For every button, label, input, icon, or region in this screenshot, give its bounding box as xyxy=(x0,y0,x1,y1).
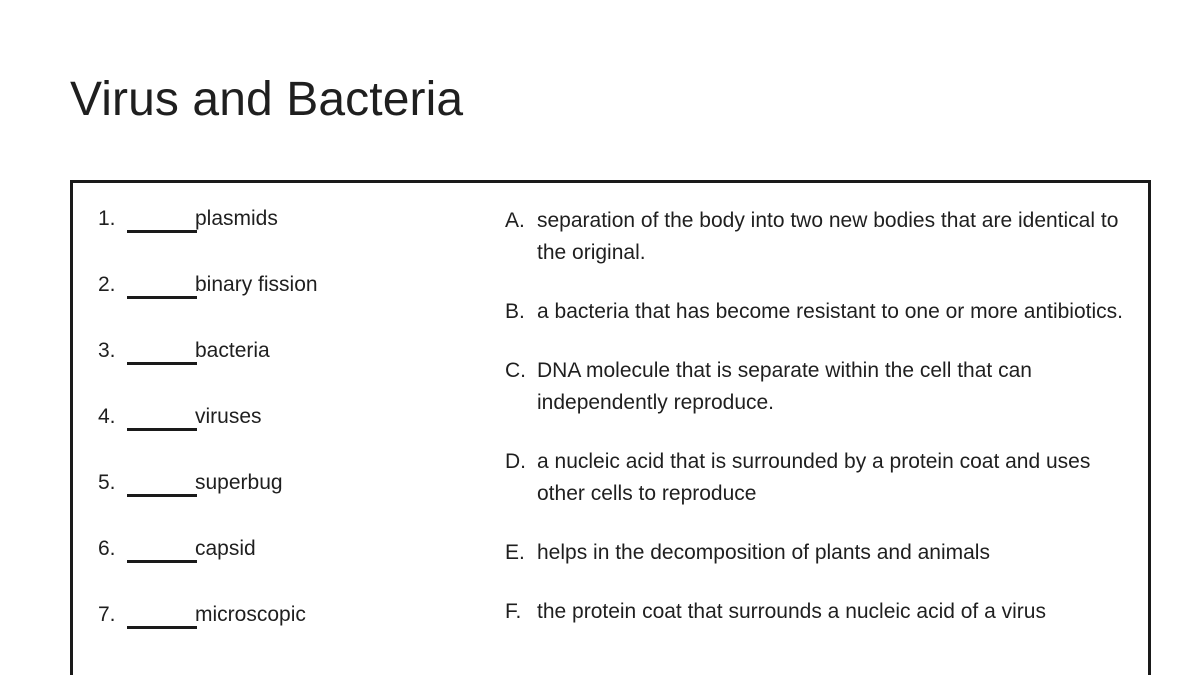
term-label: plasmids xyxy=(195,205,278,233)
definition-text: DNA molecule that is separate within the… xyxy=(537,355,1125,419)
term-label: microscopic xyxy=(195,601,306,629)
term-number: 6. xyxy=(98,535,124,563)
definition-row: F. the protein coat that surrounds a nuc… xyxy=(505,596,1125,628)
term-label: bacteria xyxy=(195,337,270,365)
definition-text: separation of the body into two new bodi… xyxy=(537,205,1125,269)
definition-row: B. a bacteria that has become resistant … xyxy=(505,296,1125,328)
answer-blank-line[interactable] xyxy=(127,205,197,233)
term-number: 1. xyxy=(98,205,124,233)
term-row: 2. binary fission xyxy=(98,271,518,337)
definition-letter: E. xyxy=(505,537,535,569)
answer-blank-line[interactable] xyxy=(127,271,197,299)
definition-text: the protein coat that surrounds a nuclei… xyxy=(537,596,1125,628)
term-row: 3. bacteria xyxy=(98,337,518,403)
term-number: 2. xyxy=(98,271,124,299)
answer-blank-line[interactable] xyxy=(127,337,197,365)
definition-row: C. DNA molecule that is separate within … xyxy=(505,355,1125,419)
definition-row: E. helps in the decomposition of plants … xyxy=(505,537,1125,569)
term-row: 4. viruses xyxy=(98,403,518,469)
definition-row: D. a nucleic acid that is surrounded by … xyxy=(505,446,1125,510)
definition-text: a bacteria that has become resistant to … xyxy=(537,296,1125,328)
answer-blank-line[interactable] xyxy=(127,469,197,497)
definition-text: a nucleic acid that is surrounded by a p… xyxy=(537,446,1125,510)
answer-blank-line[interactable] xyxy=(127,535,197,563)
term-label: binary fission xyxy=(195,271,318,299)
term-label: capsid xyxy=(195,535,256,563)
definition-letter: B. xyxy=(505,296,535,328)
term-number: 4. xyxy=(98,403,124,431)
term-number: 5. xyxy=(98,469,124,497)
term-row: 1. plasmids xyxy=(98,205,518,271)
definition-letter: D. xyxy=(505,446,535,478)
definition-letter: F. xyxy=(505,596,535,628)
answer-blank-line[interactable] xyxy=(127,601,197,629)
definition-text: helps in the decomposition of plants and… xyxy=(537,537,1125,569)
answer-blank-line[interactable] xyxy=(127,403,197,431)
term-number: 7. xyxy=(98,601,124,629)
page-title: Virus and Bacteria xyxy=(70,72,463,129)
definition-row: A. separation of the body into two new b… xyxy=(505,205,1125,269)
slide-canvas: Virus and Bacteria 1. plasmids 2. binary… xyxy=(0,0,1200,675)
term-row: 6. capsid xyxy=(98,535,518,601)
terms-column: 1. plasmids 2. binary fission 3. bacteri… xyxy=(98,205,518,667)
term-label: viruses xyxy=(195,403,262,431)
term-number: 3. xyxy=(98,337,124,365)
term-label: superbug xyxy=(195,469,283,497)
definition-letter: A. xyxy=(505,205,535,237)
definition-letter: C. xyxy=(505,355,535,387)
term-row: 7. microscopic xyxy=(98,601,518,667)
term-row: 5. superbug xyxy=(98,469,518,535)
matching-exercise-frame: 1. plasmids 2. binary fission 3. bacteri… xyxy=(70,180,1151,675)
definitions-column: A. separation of the body into two new b… xyxy=(505,205,1125,655)
